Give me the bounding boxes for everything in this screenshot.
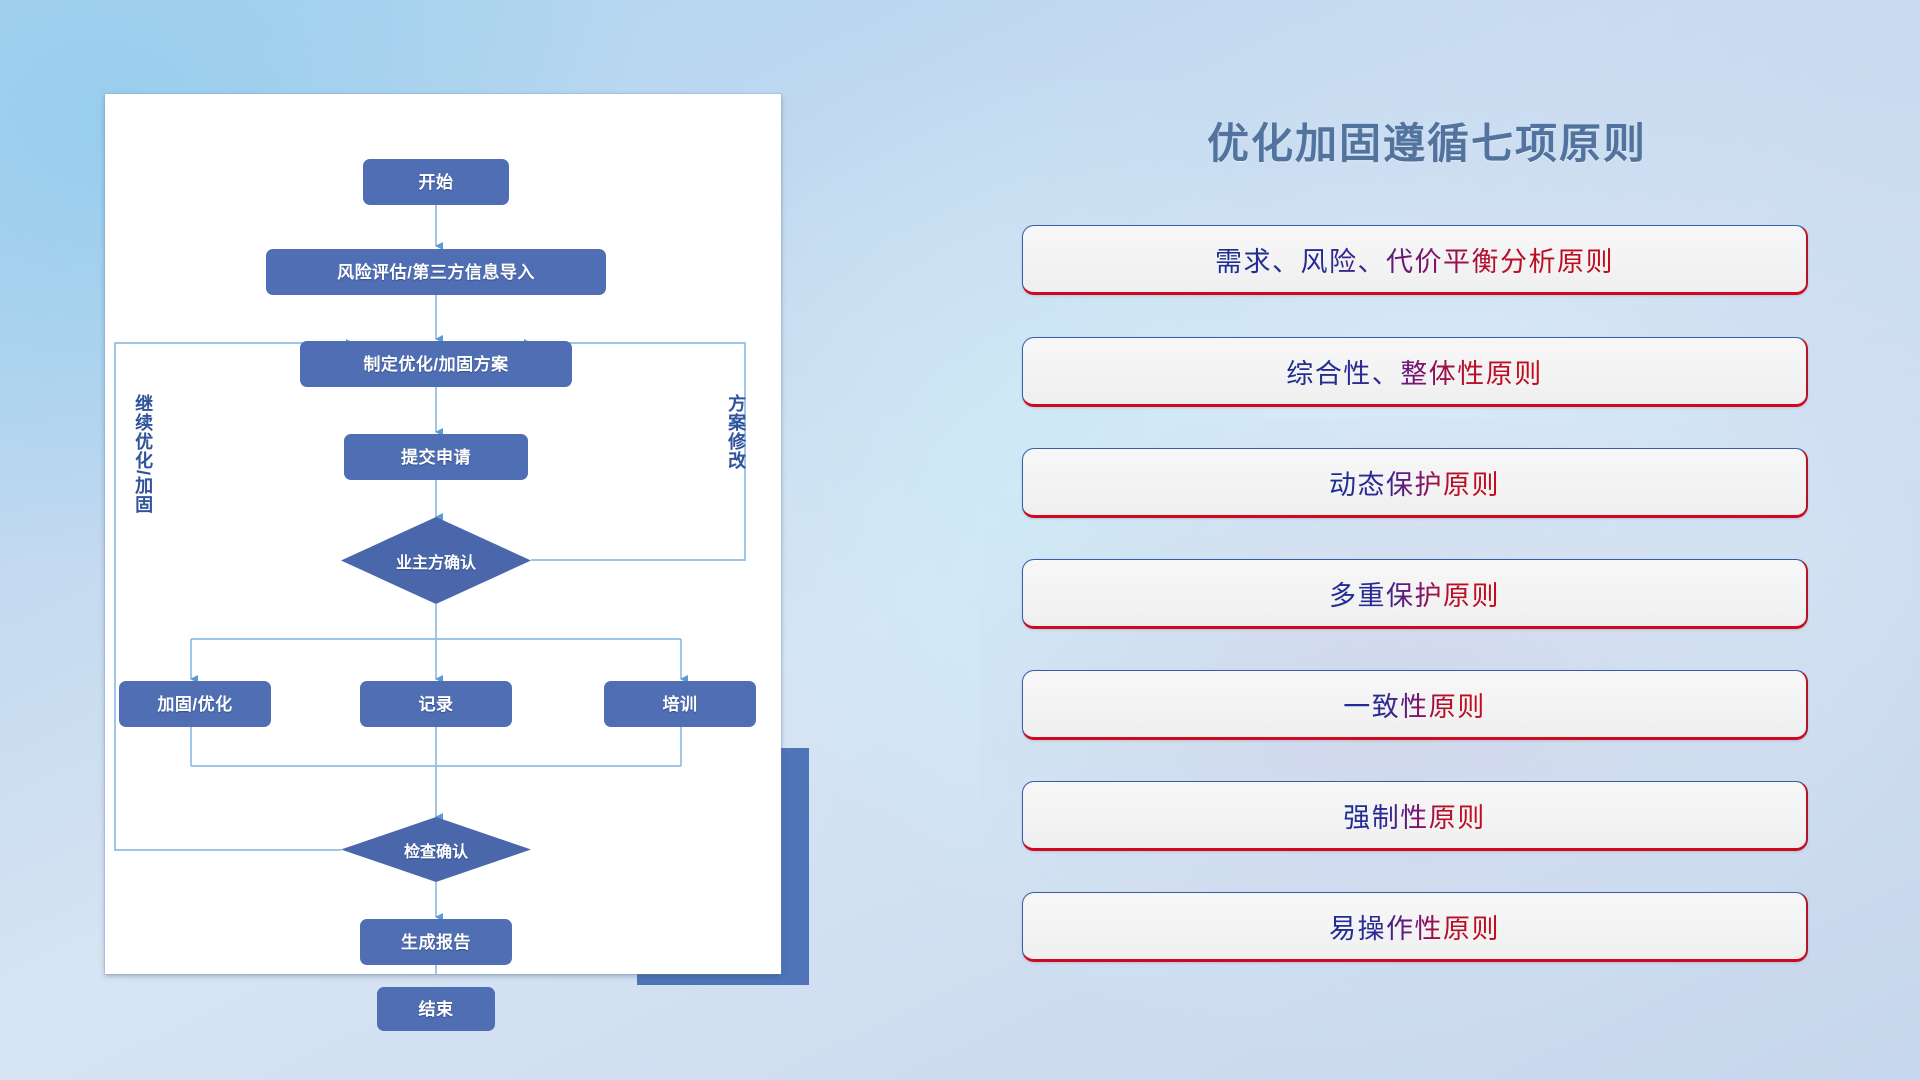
flow-node-submit-application[interactable]: 提交申请 (344, 434, 528, 480)
flow-node-end[interactable]: 结束 (377, 987, 495, 1031)
flow-node-start[interactable]: 开始 (363, 159, 509, 205)
principle-item-6[interactable]: 强制性原则 (1022, 781, 1808, 851)
flow-node-risk-assessment[interactable]: 风险评估/第三方信息导入 (266, 249, 606, 295)
flowchart-card: 开始 风险评估/第三方信息导入 制定优化/加固方案 提交申请 业主方确认 加固/… (105, 94, 781, 974)
flow-edge-label-continue-optimize: 继续优化/加固 (133, 394, 153, 514)
principle-item-4[interactable]: 多重保护原则 (1022, 559, 1808, 629)
principle-label: 需求、风险、代价平衡分析原则 (1215, 240, 1614, 279)
panel-title: 优化加固遵循七项原则 (1022, 110, 1832, 171)
principles-panel: 优化加固遵循七项原则 需求、风险、代价平衡分析原则 综合性、整体性原则 动态保护… (1022, 110, 1832, 1010)
principle-label: 强制性原则 (1343, 796, 1486, 835)
flow-decision-check-confirm[interactable]: 检查确认 (341, 817, 531, 882)
flow-node-generate-report[interactable]: 生成报告 (360, 919, 512, 965)
flow-decision-owner-confirm[interactable]: 业主方确认 (341, 517, 531, 604)
flowchart: 开始 风险评估/第三方信息导入 制定优化/加固方案 提交申请 业主方确认 加固/… (105, 94, 781, 974)
principle-label: 易操作性原则 (1329, 907, 1500, 946)
flow-edge-label-plan-revise: 方案修改 (726, 394, 746, 470)
principle-label: 多重保护原则 (1329, 574, 1500, 613)
principle-item-5[interactable]: 一致性原则 (1022, 670, 1808, 740)
flow-node-plan[interactable]: 制定优化/加固方案 (300, 341, 572, 387)
principle-item-1[interactable]: 需求、风险、代价平衡分析原则 (1022, 225, 1808, 295)
flow-node-reinforce[interactable]: 加固/优化 (119, 681, 271, 727)
principle-item-2[interactable]: 综合性、整体性原则 (1022, 337, 1808, 407)
flow-node-record[interactable]: 记录 (360, 681, 512, 727)
principle-item-3[interactable]: 动态保护原则 (1022, 448, 1808, 518)
principle-label: 综合性、整体性原则 (1286, 352, 1543, 391)
principle-label: 动态保护原则 (1329, 463, 1500, 502)
principle-label: 一致性原则 (1343, 685, 1486, 724)
flow-node-training[interactable]: 培训 (604, 681, 756, 727)
slide-canvas: 开始 风险评估/第三方信息导入 制定优化/加固方案 提交申请 业主方确认 加固/… (0, 0, 1920, 1080)
principle-item-7[interactable]: 易操作性原则 (1022, 892, 1808, 962)
